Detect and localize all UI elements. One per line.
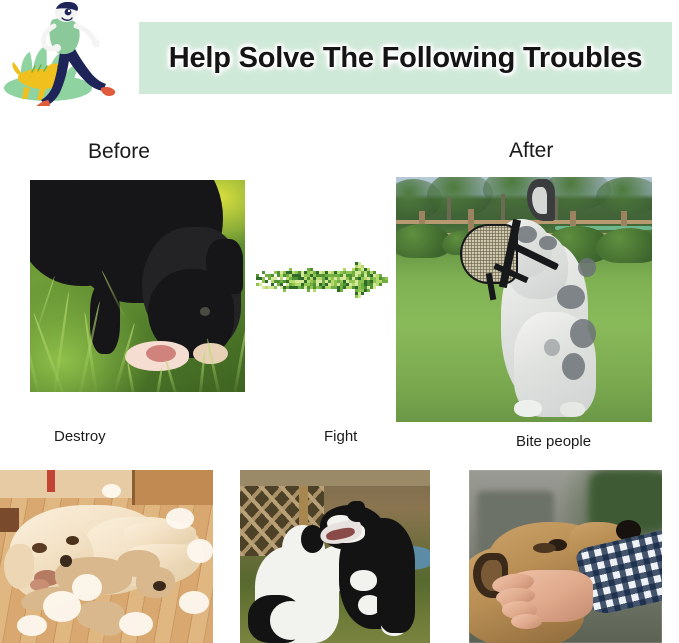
person-running-from-dog-icon [2,2,142,106]
caption-bite-people: Bite people [516,433,591,450]
before-photo [30,180,245,392]
header: Help Solve The Following Troubles [0,0,679,118]
caption-destroy: Destroy [54,428,106,445]
grass-blades [30,180,245,392]
fight-photo [240,470,430,643]
caption-fight: Fight [324,428,357,445]
pixelated-right-arrow-icon [256,262,388,298]
after-photo [396,177,652,422]
before-label: Before [88,140,150,164]
page-title: Help Solve The Following Troubles [139,22,672,94]
destroy-photo [0,470,213,643]
after-label: After [509,139,553,163]
bite-people-photo [469,470,662,643]
